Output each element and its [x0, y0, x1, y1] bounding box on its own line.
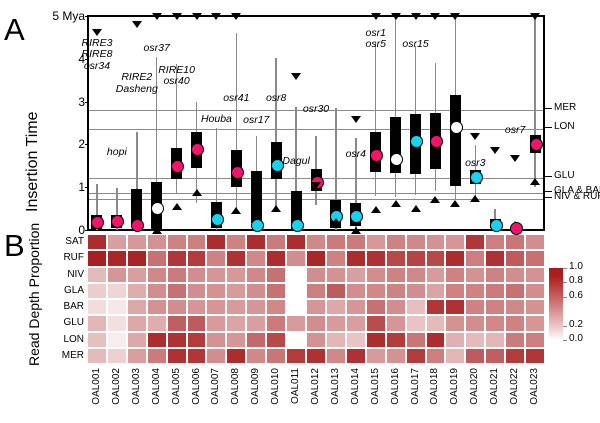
heatmap-cell	[206, 234, 226, 250]
heatmap-cell	[266, 267, 286, 283]
heatmap-cell	[286, 234, 306, 250]
element-label-14: osr3	[444, 158, 506, 170]
heatmap-cell	[127, 250, 147, 266]
heatmap-cell	[167, 250, 187, 266]
heatmap-cell	[306, 250, 326, 266]
heatmap-cell	[426, 315, 446, 331]
upper-bound-triangle-icon	[510, 155, 520, 162]
heatmap-cell	[226, 267, 246, 283]
colorbar-tick-0	[563, 268, 567, 269]
heatmap-cell	[326, 315, 346, 331]
heatmap-cell	[147, 267, 167, 283]
heatmap-cell	[167, 299, 187, 315]
heatmap-cell	[505, 283, 525, 299]
colorbar-gradient	[549, 268, 563, 340]
heatmap-cell	[346, 250, 366, 266]
upper-bound-triangle-icon	[92, 29, 102, 36]
heatmap-cell	[226, 332, 246, 348]
median-marker	[450, 121, 463, 134]
heatmap-row-label-LON: LON	[44, 335, 84, 345]
heatmap-cell	[87, 250, 107, 266]
heatmap-cell	[107, 234, 127, 250]
heatmap-cell	[326, 299, 346, 315]
upper-bound-triangle-icon	[371, 13, 381, 20]
lower-bound-triangle-icon	[172, 203, 182, 210]
heatmap-cell	[505, 250, 525, 266]
heatmap-cell	[445, 250, 465, 266]
heatmap-cell	[505, 267, 525, 283]
heatmap-cell	[406, 348, 426, 364]
median-marker	[131, 219, 144, 232]
heatmap-col-label-OAL010: OAL010	[270, 368, 281, 405]
upper-bound-triangle-icon	[450, 13, 460, 20]
lower-bound-triangle-icon	[530, 178, 540, 185]
heatmap-cell	[187, 315, 207, 331]
heatmap-col-label-OAL008: OAL008	[230, 368, 241, 405]
heatmap-cell	[445, 348, 465, 364]
upper-bound-triangle-icon	[391, 13, 401, 20]
heatmap-cell	[147, 332, 167, 348]
upper-bound-triangle-icon	[411, 13, 421, 20]
heatmap-cell	[246, 315, 266, 331]
heatmap-cell	[246, 299, 266, 315]
heatmap-col-label-OAL001: OAL001	[91, 368, 102, 405]
heatmap-col-label-OAL023: OAL023	[529, 368, 540, 405]
heatmap-cell	[306, 234, 326, 250]
upper-bound-triangle-icon	[311, 182, 321, 189]
heatmap-cell	[426, 299, 446, 315]
heatmap-cell	[406, 283, 426, 299]
heatmap-cell	[445, 267, 465, 283]
heatmap-cell	[485, 234, 505, 250]
heatmap-cell	[346, 299, 366, 315]
whisker	[534, 16, 536, 187]
heatmap-col-label-OAL019: OAL019	[449, 368, 460, 405]
upper-bound-triangle-icon	[490, 147, 500, 154]
median-marker	[490, 219, 503, 232]
upper-bound-triangle-icon	[152, 13, 162, 20]
heatmap-cell	[366, 348, 386, 364]
box	[450, 95, 461, 187]
median-marker	[291, 219, 304, 232]
heatmap-cell	[167, 315, 187, 331]
median-marker	[410, 135, 423, 148]
element-label-8: osr8	[245, 93, 307, 105]
heatmap-cell	[306, 283, 326, 299]
lower-bound-triangle-icon	[351, 227, 361, 234]
heatmap-cell	[465, 315, 485, 331]
heatmap-cell	[286, 348, 306, 364]
heatmap-cell	[127, 234, 147, 250]
upper-bound-triangle-icon	[351, 116, 361, 123]
heatmap-cell	[525, 234, 545, 250]
heatmap-cell	[266, 348, 286, 364]
heatmap-cell	[406, 267, 426, 283]
heatmap-cell	[107, 332, 127, 348]
heatmap-cell	[226, 315, 246, 331]
heatmap-cell	[326, 267, 346, 283]
heatmap-cell	[505, 234, 525, 250]
heatmap-col-label-OAL016: OAL016	[390, 368, 401, 405]
heatmap-col-label-OAL002: OAL002	[111, 368, 122, 405]
colorbar-tick-1	[563, 282, 567, 283]
median-marker	[530, 138, 543, 151]
heatmap-cell	[465, 250, 485, 266]
heatmap-cell	[226, 283, 246, 299]
colorbar-tick-label-3: 0.2	[569, 320, 583, 330]
colorbar-tick-label-1: 0.8	[569, 276, 583, 286]
heatmap-cell	[366, 315, 386, 331]
heatmap-cell	[386, 267, 406, 283]
reference-tick-0	[545, 108, 552, 109]
heatmap-cell	[366, 234, 386, 250]
panel-a-letter: A	[4, 14, 25, 45]
heatmap-cell	[167, 267, 187, 283]
heatmap-cell	[426, 332, 446, 348]
heatmap-cell	[87, 234, 107, 250]
heatmap-cell	[346, 283, 366, 299]
heatmap-cell	[485, 283, 505, 299]
heatmap-col-label-OAL012: OAL012	[310, 368, 321, 405]
heatmap-cell	[127, 299, 147, 315]
panel-b-letter: B	[4, 230, 25, 261]
heatmap-col-label-OAL017: OAL017	[410, 368, 421, 405]
heatmap-cell	[87, 267, 107, 283]
heatmap-row-BAR	[87, 299, 545, 315]
heatmap-cell	[326, 332, 346, 348]
heatmap-cell	[426, 348, 446, 364]
heatmap-cell	[206, 283, 226, 299]
upper-bound-triangle-icon	[192, 13, 202, 20]
heatmap-cell	[346, 234, 366, 250]
heatmap-cell	[426, 250, 446, 266]
heatmap-col-label-OAL015: OAL015	[370, 368, 381, 405]
heatmap-cell	[266, 332, 286, 348]
reference-label-4: NIV & RUF	[554, 191, 600, 202]
reference-label-1: LON	[554, 121, 575, 132]
heatmap-cell	[406, 332, 426, 348]
heatmap-cell	[386, 299, 406, 315]
heatmap-cell	[286, 315, 306, 331]
heatmap-cell	[485, 348, 505, 364]
heatmap-cell	[465, 283, 485, 299]
heatmap-cell	[246, 283, 266, 299]
element-label-1: hopi	[86, 147, 148, 159]
heatmap-cell	[226, 234, 246, 250]
heatmap-cell	[147, 315, 167, 331]
heatmap-cell	[505, 299, 525, 315]
heatmap-cell	[147, 283, 167, 299]
heatmap-cell	[286, 283, 306, 299]
heatmap-cell	[107, 250, 127, 266]
heatmap-cell	[525, 332, 545, 348]
heatmap-cell	[525, 299, 545, 315]
heatmap-cell	[426, 283, 446, 299]
heatmap-row-SAT	[87, 234, 545, 250]
heatmap-cell	[266, 250, 286, 266]
panel-b-row-labels: SATRUFNIVGLABARGLULONMER	[44, 234, 84, 364]
heatmap-row-label-BAR: BAR	[44, 302, 84, 312]
heatmap-cell	[326, 250, 346, 266]
heatmap-row-GLU	[87, 315, 545, 331]
heatmap-cell	[206, 299, 226, 315]
heatmap-cell	[187, 250, 207, 266]
heatmap-cell	[485, 315, 505, 331]
heatmap-cell	[107, 267, 127, 283]
y-tick-label-0: 5 Mya	[30, 10, 85, 22]
element-label-9: Dagul	[265, 156, 327, 168]
heatmap-cell	[386, 234, 406, 250]
heatmap-cell	[167, 348, 187, 364]
reference-label-0: MER	[554, 102, 576, 113]
heatmap-cell	[286, 250, 306, 266]
reference-label-2: GLU	[554, 170, 575, 181]
heatmap-cell	[366, 299, 386, 315]
heatmap-cell	[465, 234, 485, 250]
heatmap-cell	[306, 315, 326, 331]
element-label-15: osr7	[484, 125, 546, 137]
reference-tick-2	[545, 176, 552, 177]
heatmap-cell	[326, 283, 346, 299]
y-tick-label-4: 1	[30, 181, 85, 193]
colorbar-tick-label-2: 0.6	[569, 291, 583, 301]
heatmap-col-label-OAL009: OAL009	[250, 368, 261, 405]
heatmap-cell	[87, 299, 107, 315]
element-label-7: osr17	[225, 115, 287, 127]
heatmap-cell	[107, 348, 127, 364]
heatmap-cell	[366, 283, 386, 299]
median-marker	[430, 135, 443, 148]
heatmap-cell	[406, 234, 426, 250]
lower-bound-triangle-icon	[231, 207, 241, 214]
reference-tick-4	[545, 197, 552, 198]
heatmap-col-label-OAL007: OAL007	[210, 368, 221, 405]
heatmap-cell	[386, 348, 406, 364]
element-label-3: osr37	[126, 43, 188, 55]
heatmap-cell	[346, 332, 366, 348]
heatmap-cell	[426, 267, 446, 283]
heatmap-cell	[525, 250, 545, 266]
heatmap-cell	[306, 299, 326, 315]
lower-bound-triangle-icon	[470, 195, 480, 202]
heatmap-cell	[127, 283, 147, 299]
heatmap-cell	[206, 315, 226, 331]
heatmap-cell	[187, 299, 207, 315]
heatmap-cell	[346, 267, 366, 283]
heatmap-cell	[266, 234, 286, 250]
heatmap-cell	[386, 315, 406, 331]
heatmap-cell	[246, 234, 266, 250]
heatmap-cell	[167, 234, 187, 250]
lower-bound-triangle-icon	[271, 205, 281, 212]
box	[251, 171, 262, 223]
heatmap-cell	[366, 332, 386, 348]
colorbar-tick-4	[563, 340, 567, 341]
heatmap-row-NIV	[87, 267, 545, 283]
median-marker	[211, 213, 224, 226]
heatmap-cell	[326, 234, 346, 250]
element-label-0: RIRE3RIRE8osr34	[66, 38, 128, 73]
element-label-4: RIRE10osr40	[146, 65, 208, 88]
upper-bound-triangle-icon	[430, 13, 440, 20]
heatmap-cell	[306, 267, 326, 283]
heatmap-cell	[485, 267, 505, 283]
heatmap-cell	[187, 332, 207, 348]
heatmap-cell	[485, 299, 505, 315]
heatmap-cell	[386, 250, 406, 266]
whisker	[275, 58, 277, 210]
heatmap-cell	[266, 299, 286, 315]
heatmap-col-label-OAL014: OAL014	[350, 368, 361, 405]
y-tick-mark-0	[85, 16, 89, 17]
heatmap-cell	[206, 332, 226, 348]
heatmap-col-label-OAL022: OAL022	[509, 368, 520, 405]
heatmap-col-label-OAL021: OAL021	[489, 368, 500, 405]
lower-bound-triangle-icon	[192, 189, 202, 196]
reference-tick-3	[545, 191, 552, 192]
heatmap-cell	[346, 315, 366, 331]
heatmap-row-label-NIV: NIV	[44, 270, 84, 280]
upper-bound-triangle-icon	[530, 13, 540, 20]
heatmap-cell	[246, 250, 266, 266]
heatmap-col-label-OAL018: OAL018	[429, 368, 440, 405]
heatmap-cell	[286, 267, 306, 283]
figure-root: A B Insertion Time Read Depth Proportion…	[0, 0, 600, 423]
heatmap-cell	[167, 283, 187, 299]
heatmap-cell	[525, 283, 545, 299]
upper-bound-triangle-icon	[132, 21, 142, 28]
heatmap-cell	[127, 267, 147, 283]
upper-bound-triangle-icon	[172, 13, 182, 20]
colorbar-tick-3	[563, 326, 567, 327]
heatmap-cell	[226, 348, 246, 364]
heatmap-row-label-RUF: RUF	[44, 253, 84, 263]
y-tick-mark-3	[85, 144, 89, 145]
heatmap-cell	[485, 332, 505, 348]
y-tick-mark-5	[85, 230, 89, 231]
heatmap-col-label-OAL011: OAL011	[290, 368, 301, 404]
heatmap-cell	[127, 348, 147, 364]
heatmap-cell	[87, 332, 107, 348]
heatmap-cell	[406, 250, 426, 266]
heatmap-cell	[87, 315, 107, 331]
heatmap-row-label-GLA: GLA	[44, 286, 84, 296]
heatmap-cell	[406, 299, 426, 315]
heatmap-col-label-OAL003: OAL003	[131, 368, 142, 405]
heatmap-cell	[187, 234, 207, 250]
heatmap-cell	[246, 348, 266, 364]
lower-bound-triangle-icon	[211, 203, 221, 210]
heatmap-cell	[266, 283, 286, 299]
heatmap-cell	[187, 267, 207, 283]
heatmap-cell	[286, 332, 306, 348]
heatmap-cell	[206, 250, 226, 266]
element-label-13: osr15	[385, 39, 447, 51]
whisker	[375, 42, 377, 196]
lower-bound-triangle-icon	[391, 200, 401, 207]
heatmap-col-label-OAL006: OAL006	[191, 368, 202, 405]
panel-b-heatmap	[87, 234, 545, 364]
colorbar-tick-label-0: 1.0	[569, 262, 583, 272]
heatmap-cell	[366, 267, 386, 283]
heatmap-cell	[226, 250, 246, 266]
heatmap-cell	[87, 348, 107, 364]
heatmap-cell	[445, 234, 465, 250]
upper-bound-triangle-icon	[211, 13, 221, 20]
heatmap-cell	[206, 267, 226, 283]
heatmap-row-GLA	[87, 283, 545, 299]
colorbar-tick-label-4: 0.0	[569, 334, 583, 344]
heatmap-cell	[386, 332, 406, 348]
heatmap-cell	[445, 315, 465, 331]
colorbar-tick-2	[563, 297, 567, 298]
upper-bound-triangle-icon	[291, 73, 301, 80]
heatmap-cell	[465, 332, 485, 348]
heatmap-cell	[286, 299, 306, 315]
heatmap-row-MER	[87, 348, 545, 364]
heatmap-cell	[525, 348, 545, 364]
heatmap-cell	[246, 267, 266, 283]
heatmap-cell	[127, 332, 147, 348]
heatmap-cell	[505, 348, 525, 364]
heatmap-cell	[525, 267, 545, 283]
heatmap-row-label-SAT: SAT	[44, 237, 84, 247]
heatmap-cell	[445, 299, 465, 315]
heatmap-cell	[107, 315, 127, 331]
heatmap-cell	[386, 283, 406, 299]
heatmap-cell	[406, 315, 426, 331]
heatmap-row-RUF	[87, 250, 545, 266]
y-tick-label-2: 3	[30, 96, 85, 108]
heatmap-cell	[107, 283, 127, 299]
lower-bound-triangle-icon	[371, 206, 381, 213]
heatmap-cell	[206, 348, 226, 364]
heatmap-cell	[167, 332, 187, 348]
y-tick-mark-2	[85, 102, 89, 103]
upper-bound-triangle-icon	[231, 13, 241, 20]
heatmap-col-label-OAL004: OAL004	[151, 368, 162, 405]
lower-bound-triangle-icon	[450, 200, 460, 207]
upper-bound-triangle-icon	[470, 133, 480, 140]
heatmap-cell	[485, 250, 505, 266]
heatmap-col-label-OAL005: OAL005	[171, 368, 182, 405]
heatmap-row-LON	[87, 332, 545, 348]
heatmap-cell	[465, 267, 485, 283]
lower-bound-triangle-icon	[152, 227, 162, 234]
heatmap-cell	[505, 315, 525, 331]
heatmap-cell	[465, 348, 485, 364]
heatmap-cell	[107, 299, 127, 315]
heatmap-cell	[147, 348, 167, 364]
lower-bound-triangle-icon	[331, 218, 341, 225]
heatmap-cell	[445, 332, 465, 348]
heatmap-cell	[266, 315, 286, 331]
heatmap-cell	[465, 299, 485, 315]
heatmap-cell	[127, 315, 147, 331]
heatmap-row-label-GLU: GLU	[44, 318, 84, 328]
y-tick-label-3: 2	[30, 138, 85, 150]
heatmap-cell	[366, 250, 386, 266]
heatmap-col-label-OAL020: OAL020	[469, 368, 480, 405]
heatmap-cell	[306, 348, 326, 364]
heatmap-col-label-OAL013: OAL013	[330, 368, 341, 405]
element-label-10: osr30	[285, 104, 347, 116]
heatmap-cell	[187, 283, 207, 299]
heatmap-cell	[426, 234, 446, 250]
heatmap-cell	[326, 348, 346, 364]
heatmap-cell	[505, 332, 525, 348]
heatmap-cell	[147, 299, 167, 315]
